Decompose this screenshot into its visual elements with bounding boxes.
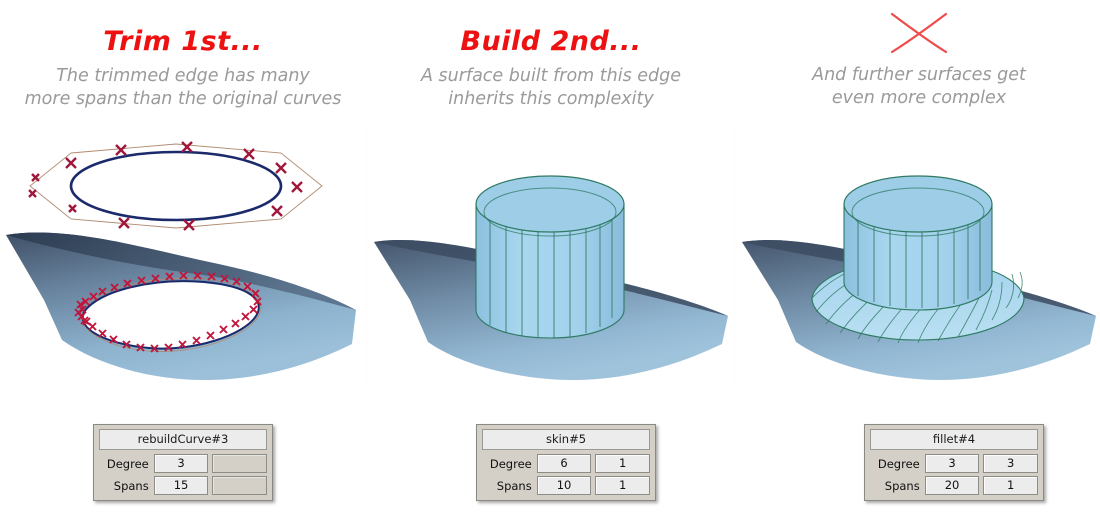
dialog-row-spans: Spans 20 1 [870,476,1038,495]
degree-value-u[interactable]: 6 [537,454,592,473]
degree-value-v[interactable] [212,454,267,473]
dialog-row-spans: Spans 15 [99,476,267,495]
degree-value-v[interactable]: 3 [983,454,1038,473]
dialog-rebuild-curve[interactable]: rebuildCurve#3 Degree 3 Spans 15 [93,424,273,501]
panel-build: Build 2nd... A surface built from this e… [368,0,734,519]
viewport-fillet [740,130,1098,385]
spans-value-u[interactable]: 10 [537,476,592,495]
circle-cv-hull [30,144,322,228]
scene-skinned-cylinder [372,130,730,385]
cylinder-top-rim [476,176,624,232]
panel-header: Build 2nd... A surface built from this e… [368,0,734,130]
panel-subtitle: A surface built from this edge inherits … [368,65,734,111]
dialog-fillet[interactable]: fillet#4 Degree 3 3 Spans 20 1 [864,424,1044,501]
degree-value-v[interactable]: 1 [595,454,650,473]
original-circle [71,152,281,220]
degree-value-u[interactable]: 3 [154,454,209,473]
cylinder-top-rim [844,176,992,232]
spans-value-v[interactable] [212,476,267,495]
viewport-trim [4,130,362,385]
spans-value-v[interactable]: 1 [595,476,650,495]
field-label-degree: Degree [99,457,154,471]
field-label-degree: Degree [870,457,925,471]
degree-value-u[interactable]: 3 [925,454,980,473]
dialog-row-spans: Spans 10 1 [482,476,650,495]
panel-fillet: And further surfaces get even more compl… [736,0,1100,519]
panel-header: Trim 1st... The trimmed edge has many mo… [0,0,366,130]
panel-title: Trim 1st... [0,26,366,57]
field-label-spans: Spans [99,479,154,493]
field-label-degree: Degree [482,457,537,471]
panel-subtitle: The trimmed edge has many more spans tha… [0,65,366,111]
spans-value-u[interactable]: 15 [154,476,209,495]
illustration-page: Trim 1st... The trimmed edge has many mo… [0,0,1100,519]
panel-header: And further surfaces get even more compl… [736,0,1100,130]
dialog-title: skin#5 [482,429,650,450]
field-label-spans: Spans [870,479,925,493]
panel-trim: Trim 1st... The trimmed edge has many mo… [0,0,366,519]
dialog-skin[interactable]: skin#5 Degree 6 1 Spans 10 1 [476,424,656,501]
field-label-spans: Spans [482,479,537,493]
dialog-row-degree: Degree 3 3 [870,454,1038,473]
dialog-row-degree: Degree 3 [99,454,267,473]
panel-subtitle: And further surfaces get even more compl… [736,64,1100,110]
scene-trimmed-surface [4,130,362,385]
spans-value-u[interactable]: 20 [925,476,980,495]
spans-value-v[interactable]: 1 [983,476,1038,495]
panel-divider-1 [366,128,367,386]
viewport-build [372,130,730,385]
panel-title: Build 2nd... [368,26,734,57]
dialog-title: fillet#4 [870,429,1038,450]
panel-divider-2 [734,128,735,386]
x-mark-icon [736,10,1100,56]
dialog-title: rebuildCurve#3 [99,429,267,450]
scene-filleted-cylinder [740,130,1098,385]
dialog-row-degree: Degree 6 1 [482,454,650,473]
